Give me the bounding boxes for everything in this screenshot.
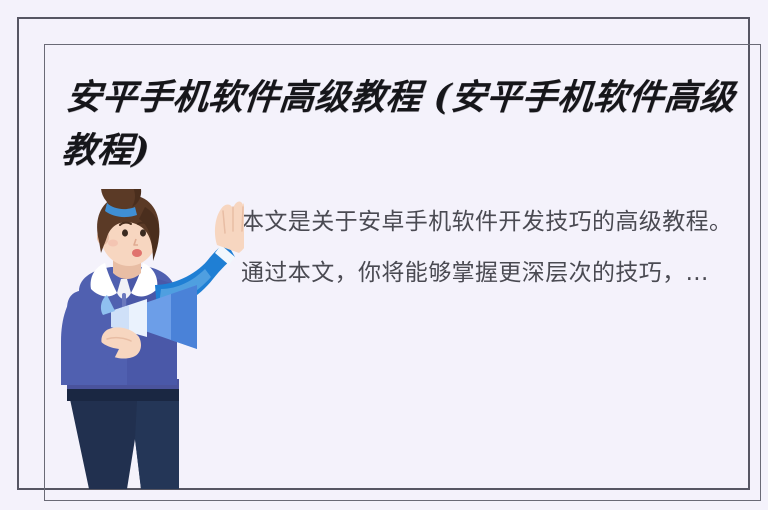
megaphone-cone-shade: [171, 285, 197, 349]
eye-left: [122, 229, 128, 236]
sweater-left-arm: [61, 291, 83, 385]
article-summary-text: 本文是关于安卓手机软件开发技巧的高级教程。通过本文，你将能够掌握更深层次的技巧，…: [241, 197, 746, 299]
eye-right: [140, 229, 146, 236]
woman-with-megaphone-illustration: [49, 189, 244, 494]
page-title: 安平手机软件高级教程 (安平手机软件高级教程): [59, 71, 768, 177]
pants-right-leg-shade: [135, 401, 179, 489]
article-card: 安平手机软件高级教程 (安平手机软件高级教程) 本文是关于安卓手机软件开发技巧的…: [17, 17, 750, 490]
illustration-svg: [49, 189, 244, 494]
raised-hand: [215, 202, 244, 253]
lips: [132, 249, 142, 257]
blush: [108, 240, 118, 247]
